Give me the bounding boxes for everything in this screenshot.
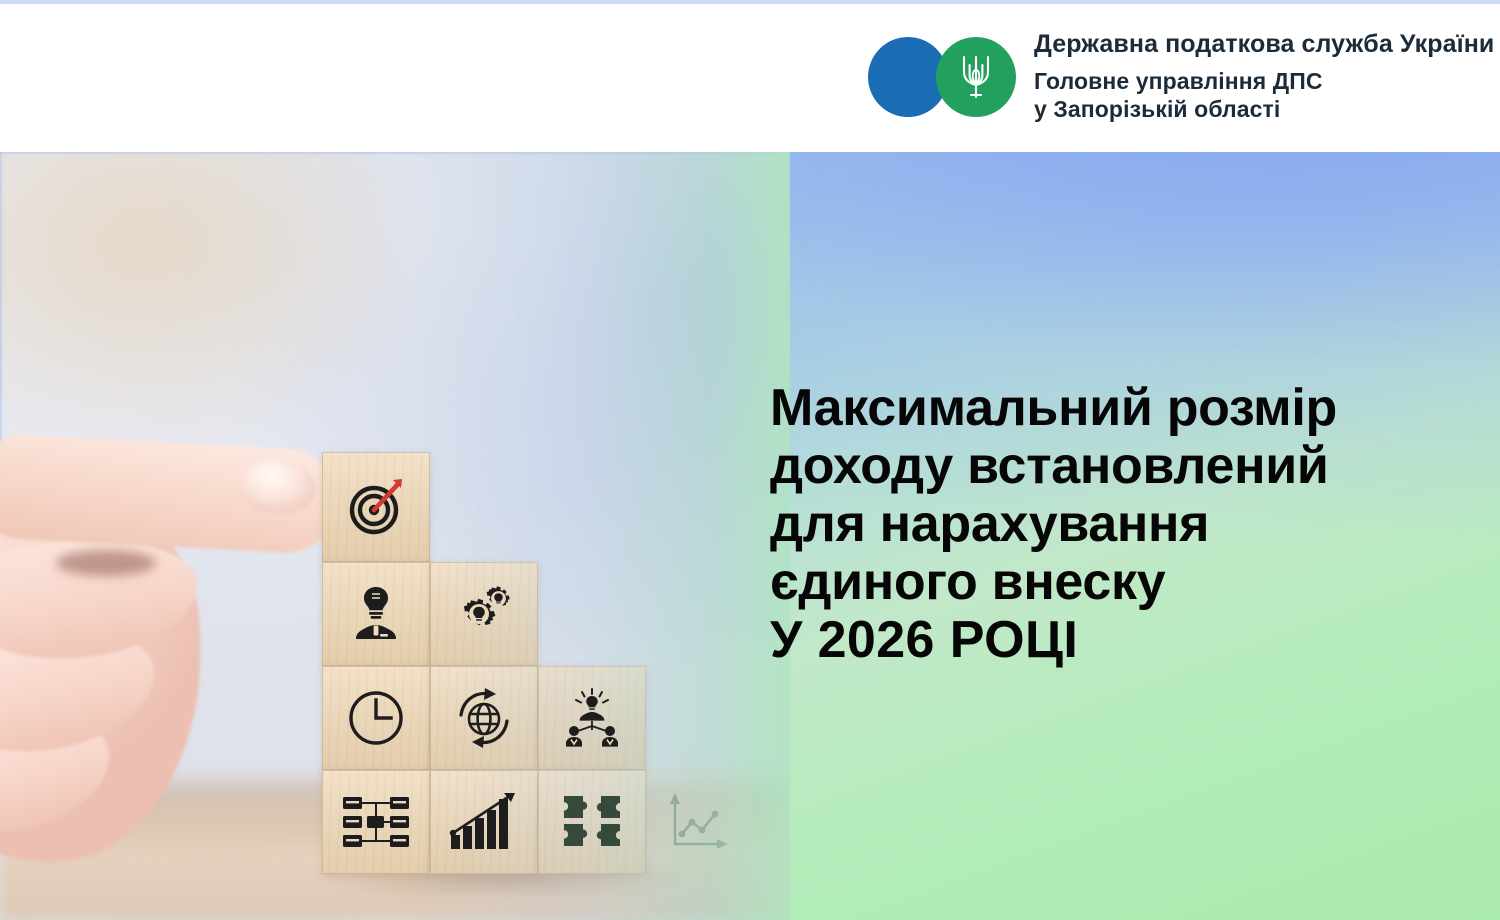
globe-cycle-icon [452, 687, 516, 749]
agency-logo [868, 37, 1016, 117]
block-growth [430, 770, 538, 874]
header-band: Державна податкова служба України Головн… [0, 4, 1500, 152]
headline-line-1: Максимальний розмір [770, 380, 1470, 438]
brand-line-3: у Запорізькій області [1034, 95, 1494, 124]
team-leadership-icon [561, 688, 623, 748]
puzzle-pieces-icon [561, 793, 623, 851]
target-dartboard-icon [345, 476, 407, 538]
gears-lightbulb-icon [452, 584, 516, 644]
poster: Державна податкова служба України Головн… [0, 0, 1500, 920]
brand-block: Державна податкова служба України Головн… [868, 30, 1494, 124]
block-clock [322, 666, 430, 770]
wooden-block-stack [322, 452, 782, 920]
headline: Максимальний розмір доходу встановлений … [770, 380, 1470, 670]
headline-line-3: для нарахування [770, 496, 1470, 554]
lightbulb-person-icon [346, 585, 406, 643]
headline-line-4: єдиного внеску [770, 554, 1470, 612]
headline-year: У 2026 РОЦІ [770, 612, 1470, 670]
block-target [322, 452, 430, 562]
tryzub-icon [960, 51, 992, 103]
block-team [538, 666, 646, 770]
block-puzzle [538, 770, 646, 874]
hero-stage: Максимальний розмір доходу встановлений … [0, 152, 1500, 920]
line-chart-icon [667, 792, 729, 852]
hero-photograph [0, 152, 790, 920]
headline-line-2: доходу встановлений [770, 438, 1470, 496]
block-idea-person [322, 562, 430, 666]
clock-icon [346, 688, 406, 748]
hand-knuckle-shadow [56, 550, 156, 576]
block-gears [430, 562, 538, 666]
brand-text: Державна податкова служба України Головн… [1034, 30, 1494, 124]
bar-chart-growth-icon [449, 793, 519, 851]
brand-line-1: Державна податкова служба України [1034, 30, 1494, 60]
org-chart-icon [343, 796, 409, 848]
block-org-chart [322, 770, 430, 874]
brand-line-2: Головне управління ДПС [1034, 67, 1494, 96]
block-globe [430, 666, 538, 770]
block-line-chart [646, 770, 750, 874]
